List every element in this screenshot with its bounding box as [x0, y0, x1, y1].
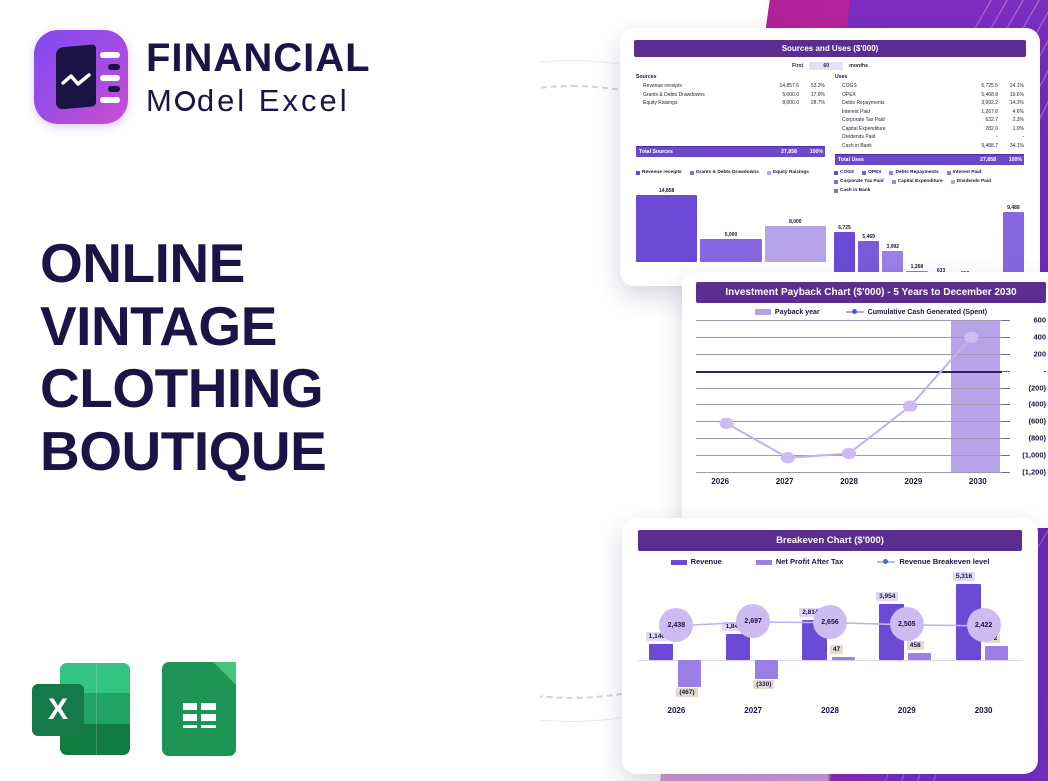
npat-bar [832, 657, 855, 660]
y-tick-label: (1,200) [1022, 468, 1046, 477]
use-pct: 2.3% [998, 116, 1024, 125]
source-value: 8,000.0 [761, 99, 799, 108]
uses-chart-legend: COGSOPEXDebts RepaymentsInterest PaidCor… [834, 170, 1024, 193]
npat-bar [678, 660, 701, 687]
bar [765, 226, 826, 262]
payback-y-axis: 600400200-(200)(400)(600)(800)(1,000)(1,… [1002, 320, 1046, 472]
table-row: Dividends Paid-- [835, 133, 1024, 142]
legend-item: Debts Repayments [889, 170, 938, 175]
microsoft-excel-icon: X [30, 660, 134, 758]
x-tick-label: 2028 [792, 706, 869, 715]
use-value: 9,488.7 [960, 142, 998, 151]
revenue-value-label: 3,954 [876, 592, 898, 601]
x-tick-label: 2026 [688, 477, 752, 486]
y-tick [1002, 438, 1010, 439]
source-pct: 28.7% [799, 99, 825, 108]
legend-item: Capital Expenditure [892, 179, 943, 184]
bar [700, 239, 761, 262]
table-row: Debts Repayments3,992.214.3% [835, 99, 1024, 108]
y-tick-label: (600) [1028, 417, 1046, 426]
use-name: Dividends Paid [835, 133, 960, 142]
legend-item: OPEX [862, 170, 881, 175]
sources-header: Sources [636, 74, 825, 80]
breakeven-x-axis: 20262027202820292030 [628, 706, 1032, 715]
breakeven-chart-legend: Revenue Net Profit After Tax Revenue Bre… [628, 557, 1032, 566]
source-value: 14,857.6 [761, 82, 799, 91]
table-row: Corporate Tax Paid632.72.3% [835, 116, 1024, 125]
period-months-input[interactable]: 60 [809, 62, 843, 70]
use-value: 1,267.8 [960, 108, 998, 117]
bar-group: 3,954458 [868, 572, 945, 700]
sources-uses-charts: Revenue receiptsGrants & Debts Drawdowns… [628, 165, 1032, 280]
x-tick-label: 2028 [817, 477, 881, 486]
source-pct: 17.9% [799, 91, 825, 100]
y-tick-label: (1,000) [1022, 451, 1046, 460]
table-row: Grants & Debts Drawdowns5,000.017.9% [636, 91, 825, 100]
sources-bar-chart: Revenue receiptsGrants & Debts Drawdowns… [636, 165, 826, 280]
y-tick-label: 600 [1033, 316, 1046, 325]
headline-line-1: ONLINE [40, 232, 510, 295]
use-value: 632.7 [960, 116, 998, 125]
breakeven-plot-area: 1,140(467)1,848(330)2,814473,9544585,316… [638, 572, 1022, 700]
headline-line-3: CLOTHING [40, 357, 510, 420]
bar-group: 1,140(467) [638, 572, 715, 700]
y-tick [1002, 371, 1010, 372]
compatible-apps: X [30, 660, 236, 758]
uses-header: Uses [835, 74, 1024, 80]
table-row: Revenue receipts14,857.653.3% [636, 82, 825, 91]
y-tick-label: 400 [1033, 332, 1046, 341]
source-pct: 53.3% [799, 82, 825, 91]
uses-bar-chart: COGSOPEXDebts RepaymentsInterest PaidCor… [834, 165, 1024, 280]
sources-and-uses-panel: Sources and Uses ($'000) First 60 months… [620, 28, 1040, 286]
npat-value-label: 972 [984, 634, 1001, 643]
revenue-bar [879, 604, 904, 660]
google-sheets-icon [162, 660, 236, 758]
y-tick [1002, 320, 1010, 321]
use-pct: 19.6% [998, 91, 1024, 100]
excel-x-label: X [32, 684, 84, 736]
revenue-value-label: 5,316 [953, 572, 975, 581]
npat-bar [908, 653, 931, 660]
use-name: OPEX [835, 91, 960, 100]
y-tick [1002, 337, 1010, 338]
sources-uses-tables: Sources Revenue receipts14,857.653.3%Gra… [628, 74, 1032, 165]
bar-column: 6,725 [834, 196, 855, 280]
brand-title-line1: FINANCIAL [146, 38, 371, 78]
brand-title-line2-b: del Excel [197, 85, 350, 116]
npat-value-label: (330) [753, 680, 774, 689]
y-tick [1002, 472, 1010, 473]
total-uses-row: Total Uses 27,858 100% [835, 154, 1024, 165]
total-sources-row: Total Sources 27,858 100% [636, 146, 825, 157]
y-tick [1002, 421, 1010, 422]
brand-logo: FINANCIAL M del Excel [34, 30, 371, 124]
brand-title-line2-a: M [146, 85, 175, 116]
period-selector: First 60 months [628, 62, 1032, 70]
bar-column: 5,469 [858, 196, 879, 280]
bar-column: 5,000 [700, 178, 761, 262]
payback-x-axis: 20262027202820292030 [688, 477, 1048, 486]
brand-title-line2: M del Excel [146, 85, 371, 116]
investment-payback-panel: Investment Payback Chart ($'000) - 5 Yea… [682, 272, 1048, 528]
x-tick-label: 2029 [868, 706, 945, 715]
bar-value-label: 8,000 [789, 219, 802, 225]
revenue-bar [649, 644, 674, 660]
x-tick-label: 2030 [946, 477, 1010, 486]
legend-payback-year: Payback year [755, 309, 820, 316]
total-uses-value: 27,858 [958, 157, 996, 163]
source-name: Grants & Debts Drawdowns [636, 91, 761, 100]
use-name: COGS [835, 82, 960, 91]
left-content: FINANCIAL M del Excel ONLINE VINTAGE CLO… [0, 0, 560, 781]
bar-column: 8,000 [765, 178, 826, 262]
use-pct: 4.6% [998, 108, 1024, 117]
bar-value-label: 5,469 [862, 234, 875, 240]
y-tick-label: (800) [1028, 434, 1046, 443]
npat-value-label: 458 [907, 641, 924, 650]
payback-line-series [696, 320, 1002, 475]
y-tick-label: 200 [1033, 349, 1046, 358]
use-value: 5,468.8 [960, 91, 998, 100]
bar-column: 1,268 [906, 196, 927, 280]
source-name: Revenue receipts [636, 82, 761, 91]
x-tick-label: 2030 [945, 706, 1022, 715]
sources-table: Sources Revenue receipts14,857.653.3%Gra… [636, 74, 825, 165]
table-row: Interest Paid1,267.84.6% [835, 108, 1024, 117]
use-value: 282.0 [960, 125, 998, 134]
use-value: 3,992.2 [960, 99, 998, 108]
headline-line-4: BOUTIQUE [40, 420, 510, 483]
total-sources-pct: 100% [797, 149, 825, 155]
bar-value-label: 3,992 [887, 244, 900, 250]
bar-group: 2,81447 [792, 572, 869, 700]
y-tick [1002, 388, 1010, 389]
x-tick-label: 2027 [715, 706, 792, 715]
x-tick-label: 2029 [881, 477, 945, 486]
bar-value-label: 5,000 [725, 232, 738, 238]
table-row: Cash in Bank9,488.734.1% [835, 142, 1024, 151]
npat-bar [985, 646, 1008, 660]
period-suffix-label: months [849, 63, 868, 69]
legend-item: Equity Raisings [767, 170, 809, 175]
use-pct: 24.1% [998, 82, 1024, 91]
bar-group: 1,848(330) [715, 572, 792, 700]
use-pct: 34.1% [998, 142, 1024, 151]
y-tick [1002, 354, 1010, 355]
source-name: Equity Raisings [636, 99, 761, 108]
legend-item: Grants & Debts Drawdowns [690, 170, 759, 175]
bar-column: 14,858 [636, 178, 697, 262]
bar-group: 5,316972 [945, 572, 1022, 700]
use-name: Debts Repayments [835, 99, 960, 108]
use-name: Corporate Tax Paid [835, 116, 960, 125]
legend-npat: Net Profit After Tax [756, 557, 844, 566]
npat-value-label: (467) [676, 688, 697, 697]
financial-model-excel-logo-icon [34, 30, 128, 124]
use-name: Cash in Bank [835, 142, 960, 151]
bar-column: 0 [979, 196, 1000, 280]
bar-column: 9,489 [1003, 196, 1024, 280]
headline-line-2: VINTAGE [40, 295, 510, 358]
table-row: OPEX5,468.819.6% [835, 91, 1024, 100]
total-uses-label: Total Uses [835, 157, 958, 163]
breakeven-panel: Breakeven Chart ($'000) Revenue Net Prof… [622, 518, 1038, 774]
background-white-notch [540, 0, 730, 30]
table-row: Equity Raisings8,000.028.7% [636, 99, 825, 108]
hamburger-o-icon [175, 85, 197, 116]
legend-cumulative-cash: Cumulative Cash Generated (Spent) [846, 309, 987, 316]
use-value: - [960, 133, 998, 142]
legend-item: Revenue receipts [636, 170, 682, 175]
bar-value-label: 6,725 [838, 225, 851, 231]
revenue-bar [956, 584, 981, 660]
y-tick-label: (200) [1028, 383, 1046, 392]
use-pct: 1.0% [998, 125, 1024, 134]
sources-chart-bars: 14,8585,0008,000 [636, 178, 826, 262]
uses-chart-bars: 6,7255,4693,9921,26863328209,489 [834, 196, 1024, 280]
poster-canvas: FINANCIAL M del Excel ONLINE VINTAGE CLO… [0, 0, 1048, 781]
use-name: Interest Paid [835, 108, 960, 117]
npat-value-label: 47 [830, 645, 843, 654]
legend-item: Dividends Paid [951, 179, 991, 184]
revenue-value-label: 1,848 [722, 622, 744, 631]
payback-plot-area: 600400200-(200)(400)(600)(800)(1,000)(1,… [696, 320, 1046, 472]
sources-uses-title: Sources and Uses ($'000) [634, 40, 1026, 57]
period-prefix-label: First [792, 63, 803, 69]
y-tick-label: (400) [1028, 400, 1046, 409]
bar-value-label: 14,858 [659, 188, 674, 194]
bar [636, 195, 697, 262]
revenue-value-label: 1,140 [646, 632, 668, 641]
x-tick-label: 2027 [752, 477, 816, 486]
bar-column: 3,992 [882, 196, 903, 280]
use-pct: - [998, 133, 1024, 142]
use-value: 6,725.5 [960, 82, 998, 91]
total-sources-label: Total Sources [636, 149, 759, 155]
table-row: COGS6,725.524.1% [835, 82, 1024, 91]
source-value: 5,000.0 [761, 91, 799, 100]
revenue-bar [726, 634, 751, 660]
legend-item: Corporate Tax Paid [834, 179, 884, 184]
use-name: Capital Expenditure [835, 125, 960, 134]
legend-breakeven-level: Revenue Breakeven level [877, 557, 989, 566]
table-row: Capital Expenditure282.01.0% [835, 125, 1024, 134]
revenue-value-label: 2,814 [799, 608, 821, 617]
legend-revenue: Revenue [671, 557, 722, 566]
total-sources-value: 27,858 [759, 149, 797, 155]
use-pct: 14.3% [998, 99, 1024, 108]
payback-chart-title: Investment Payback Chart ($'000) - 5 Yea… [696, 282, 1046, 303]
breakeven-chart-title: Breakeven Chart ($'000) [638, 530, 1022, 551]
sources-chart-legend: Revenue receiptsGrants & Debts Drawdowns… [636, 170, 826, 175]
bar-column: 633 [931, 196, 952, 280]
bar-value-label: 9,489 [1007, 205, 1020, 211]
bar [1003, 212, 1024, 280]
y-tick [1002, 455, 1010, 456]
y-tick-label: - [1044, 366, 1047, 375]
payback-chart-legend: Payback year Cumulative Cash Generated (… [688, 309, 1048, 316]
total-uses-pct: 100% [996, 157, 1024, 163]
bar-column: 282 [955, 196, 976, 280]
y-tick [1002, 404, 1010, 405]
npat-bar [755, 660, 778, 679]
legend-item: Cash in Bank [834, 188, 870, 193]
page-title: ONLINE VINTAGE CLOTHING BOUTIQUE [40, 232, 510, 483]
uses-table: Uses COGS6,725.524.1%OPEX5,468.819.6%Deb… [835, 74, 1024, 165]
x-tick-label: 2026 [638, 706, 715, 715]
legend-item: COGS [834, 170, 854, 175]
bar-value-label: 1,268 [911, 264, 924, 270]
revenue-bar [802, 620, 827, 660]
legend-item: Interest Paid [947, 170, 982, 175]
